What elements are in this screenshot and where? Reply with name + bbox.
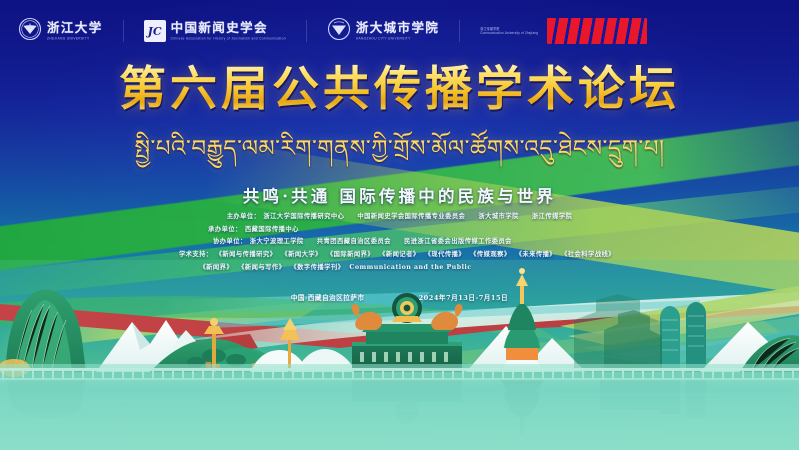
journal-item: 《新闻记者》 — [379, 252, 419, 258]
jc-monogram-icon: JC — [144, 20, 166, 42]
poster-title-tibetan: སྤྱི་པའི་བརྒྱུད་ལམ་རིག་གནས་ཀྱི་གྲོས་མོལ་… — [0, 123, 799, 188]
coorganizer-line: 协办单位： 浙大宁波理工学院 共青团西藏自治区委员会 民进浙江省委会出版传媒工作… — [0, 239, 799, 245]
sponsor-logo-bar: 浙江大学 ZHEJIANG UNIVERSITY JC 中国新闻史学会 Chin… — [0, 0, 799, 62]
journal-item: 《传媒观察》 — [470, 252, 510, 258]
poster-title: 第六届公共传播学术论坛 — [0, 62, 799, 117]
journal-item: 《新闻大学》 — [281, 252, 321, 258]
academic-support-label: 学术支持： — [179, 252, 213, 258]
host-item: 浙江大学国际传播研究中心 — [263, 214, 344, 220]
logo-label-en: ZHEJIANG UNIVERSITY — [47, 37, 103, 41]
journal-item: 《新闻与传播研究》 — [216, 252, 277, 258]
logo-divider — [306, 20, 307, 42]
host-item: 浙大城市学院 — [478, 214, 518, 220]
logo-zhejiang-university: 浙江大学 ZHEJIANG UNIVERSITY — [18, 17, 103, 46]
coorganizer-item: 共青团西藏自治区委员会 — [317, 239, 391, 245]
coorganizer-item: 浙大宁波理工学院 — [250, 239, 304, 245]
journal-item: Communication and the Public — [349, 265, 471, 271]
logo-label-en: Communication University of Zhejiang — [480, 31, 538, 36]
journal-item: 《未来传播》 — [516, 252, 556, 258]
journal-item: 《社会科学战线》 — [561, 252, 615, 258]
host-item: 中国新闻史学会国际传播专业委员会 — [357, 214, 465, 220]
logo-label-cn: 中国新闻史学会 — [171, 22, 286, 35]
organizer-label: 承办单位： — [208, 227, 242, 233]
journal-item: 《新闻与写作》 — [238, 265, 285, 271]
coorganizer-item: 民进浙江省委会出版传媒工作委员会 — [404, 239, 512, 245]
journal-item: 《数字传播学刊》 — [290, 265, 344, 271]
academic-support-line-1: 学术支持： 《新闻与传播研究》 《新闻大学》 《国际新闻界》 《新闻记者》 《现… — [0, 252, 799, 258]
zhejiang-university-seal-icon — [18, 17, 42, 46]
logo-hangzhou-city-university: 浙大城市学院 HANGZHOU CITY UNIVERSITY — [327, 17, 439, 46]
poster-theme: 共鸣·共通 国际传播中的民族与世界 — [0, 183, 799, 207]
event-location: 中国·西藏自治区拉萨市 — [291, 292, 365, 302]
logo-divider — [123, 20, 124, 42]
coorganizer-label: 协办单位： — [213, 239, 247, 245]
tibetan-landscape-illustration — [0, 260, 799, 450]
organizer-block: 主办单位： 浙江大学国际传播研究中心 中国新闻史学会国际传播专业委员会 浙大城市… — [0, 214, 799, 277]
journal-item: 《国际新闻界》 — [327, 252, 374, 258]
journal-item: 《现代传播》 — [425, 252, 465, 258]
logo-label-cn: 浙江大学 — [47, 22, 103, 35]
host-line: 主办单位： 浙江大学国际传播研究中心 中国新闻史学会国际传播专业委员会 浙大城市… — [0, 214, 799, 220]
logo-chinese-association-history-journalism: JC 中国新闻史学会 Chinese Association for Histo… — [144, 20, 286, 42]
logo-communication-university-of-zhejiang: 浙江传媒学院 Communication University of Zheji… — [480, 18, 647, 44]
organizer-line: 承办单位： 西藏国际传播中心 — [0, 227, 799, 233]
hangzhou-city-university-shield-icon — [327, 17, 351, 46]
event-dates: 2024年7月13日-7月15日 — [419, 292, 509, 302]
organizer-item: 西藏国际传播中心 — [245, 227, 299, 233]
host-item: 浙江传媒学院 — [532, 214, 572, 220]
host-label: 主办单位： — [227, 214, 261, 220]
conference-poster: 浙江大学 ZHEJIANG UNIVERSITY JC 中国新闻史学会 Chin… — [0, 0, 799, 450]
logo-divider — [459, 20, 460, 42]
red-stripes-icon — [547, 18, 647, 44]
logo-label-cn: 浙大城市学院 — [356, 22, 439, 35]
journal-item: 《新闻界》 — [199, 265, 233, 271]
logo-label-en: HANGZHOU CITY UNIVERSITY — [356, 37, 439, 41]
logo-label-en: Chinese Association for History of Journ… — [171, 37, 286, 41]
footer-meta: 中国·西藏自治区拉萨市 2024年7月13日-7月15日 — [0, 292, 799, 302]
title-block: 第六届公共传播学术论坛 སྤྱི་པའི་བརྒྱུད་ལམ་རིག་གནས་ཀ… — [0, 62, 799, 188]
academic-support-line-2: 《新闻界》 《新闻与写作》 《数字传播学刊》 Communication and… — [0, 265, 799, 271]
